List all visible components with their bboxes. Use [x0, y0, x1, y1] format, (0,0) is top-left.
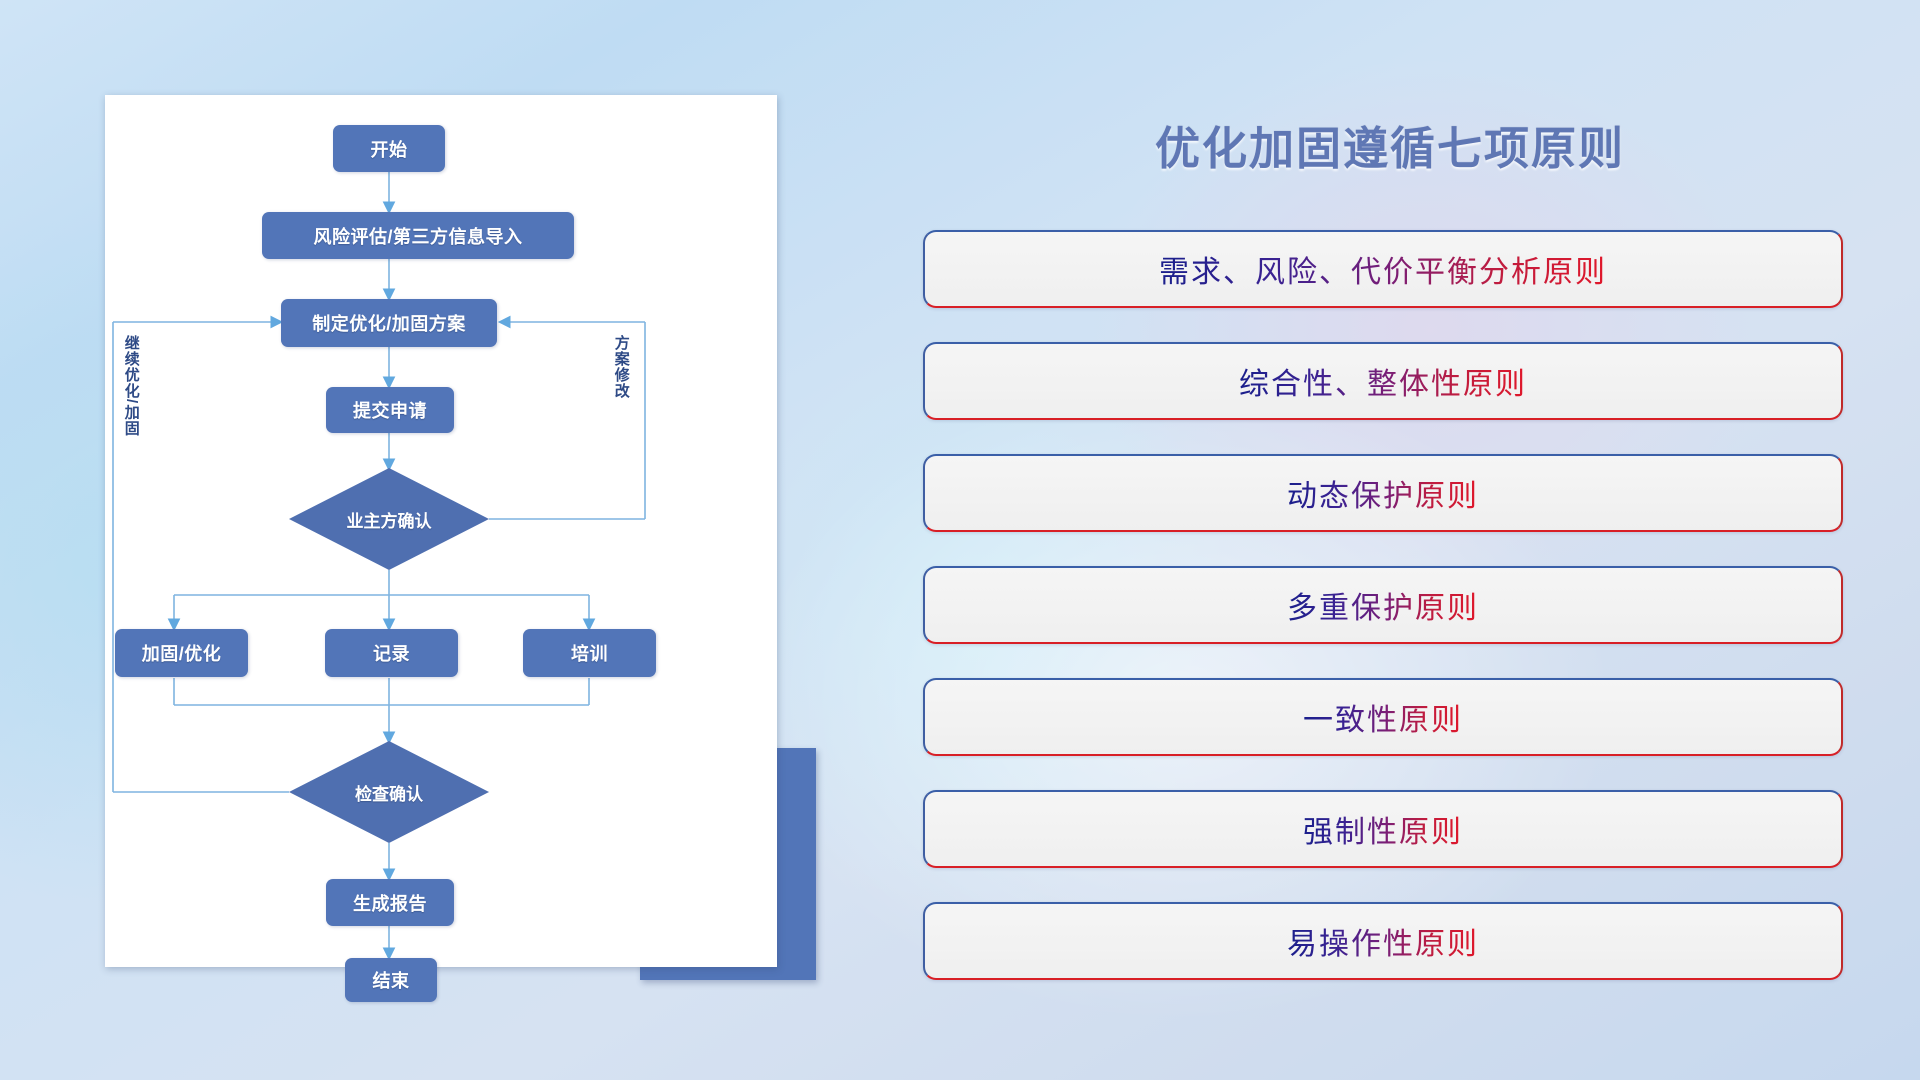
flow-node-owner-confirm[interactable]: 业主方确认 — [289, 468, 489, 570]
principle-label: 一致性原则 — [1303, 695, 1463, 739]
principle-box-7[interactable]: 易操作性原则 — [923, 902, 1843, 980]
flow-node-label: 结束 — [373, 967, 410, 993]
flowchart-panel: 开始 风险评估/第三方信息导入 制定优化/加固方案 提交申请 业主方确认 加固/… — [0, 0, 860, 1080]
flow-node-reinforce-optimize[interactable]: 加固/优化 — [115, 629, 248, 677]
flow-node-label: 制定优化/加固方案 — [312, 310, 466, 336]
flow-node-start[interactable]: 开始 — [333, 125, 445, 172]
flow-node-label: 检查确认 — [355, 780, 423, 805]
flow-node-label: 记录 — [373, 640, 410, 666]
principle-label: 综合性、整体性原则 — [1239, 359, 1527, 403]
list-item[interactable]: 动态保护原则 — [923, 454, 1843, 532]
flow-node-label: 加固/优化 — [142, 640, 222, 666]
page-title: 优化加固遵循七项原则 — [860, 112, 1920, 177]
flow-node-label: 培训 — [571, 640, 608, 666]
flow-node-label: 风险评估/第三方信息导入 — [314, 223, 523, 249]
slide-canvas: 开始 风险评估/第三方信息导入 制定优化/加固方案 提交申请 业主方确认 加固/… — [0, 0, 1920, 1080]
list-item[interactable]: 综合性、整体性原则 — [923, 342, 1843, 420]
flow-node-label: 提交申请 — [353, 397, 427, 423]
flow-node-training[interactable]: 培训 — [523, 629, 656, 677]
principles-list: 需求、风险、代价平衡分析原则 综合性、整体性原则 动态保护原则 多重保护原则 — [923, 230, 1843, 1014]
flow-node-make-plan[interactable]: 制定优化/加固方案 — [281, 299, 497, 347]
flow-node-generate-report[interactable]: 生成报告 — [326, 879, 454, 926]
principle-box-4[interactable]: 多重保护原则 — [923, 566, 1843, 644]
flow-node-label: 开始 — [371, 136, 408, 162]
list-item[interactable]: 强制性原则 — [923, 790, 1843, 868]
principle-label: 强制性原则 — [1303, 807, 1463, 851]
principle-box-1[interactable]: 需求、风险、代价平衡分析原则 — [923, 230, 1843, 308]
principle-box-3[interactable]: 动态保护原则 — [923, 454, 1843, 532]
principle-box-5[interactable]: 一致性原则 — [923, 678, 1843, 756]
principles-panel: 优化加固遵循七项原则 需求、风险、代价平衡分析原则 综合性、整体性原则 动态保护… — [860, 0, 1920, 1080]
flow-node-inspection-confirm[interactable]: 检查确认 — [289, 741, 489, 843]
list-item[interactable]: 多重保护原则 — [923, 566, 1843, 644]
principle-label: 需求、风险、代价平衡分析原则 — [1159, 247, 1607, 291]
edge-label-continue-optimize: 继续优化/加固 — [123, 335, 139, 436]
flow-node-submit-application[interactable]: 提交申请 — [326, 387, 454, 433]
flow-node-record[interactable]: 记录 — [325, 629, 458, 677]
flow-node-label: 业主方确认 — [347, 507, 432, 532]
principle-label: 动态保护原则 — [1287, 471, 1479, 515]
principle-label: 易操作性原则 — [1287, 919, 1479, 963]
flow-node-label: 生成报告 — [353, 890, 427, 916]
principle-box-2[interactable]: 综合性、整体性原则 — [923, 342, 1843, 420]
edge-label-plan-revision: 方案修改 — [613, 335, 629, 399]
flow-node-end[interactable]: 结束 — [345, 958, 437, 1002]
principle-box-6[interactable]: 强制性原则 — [923, 790, 1843, 868]
flowchart-card: 开始 风险评估/第三方信息导入 制定优化/加固方案 提交申请 业主方确认 加固/… — [105, 95, 777, 967]
principle-label: 多重保护原则 — [1287, 583, 1479, 627]
list-item[interactable]: 一致性原则 — [923, 678, 1843, 756]
list-item[interactable]: 易操作性原则 — [923, 902, 1843, 980]
flow-node-risk-assessment[interactable]: 风险评估/第三方信息导入 — [262, 212, 574, 259]
list-item[interactable]: 需求、风险、代价平衡分析原则 — [923, 230, 1843, 308]
